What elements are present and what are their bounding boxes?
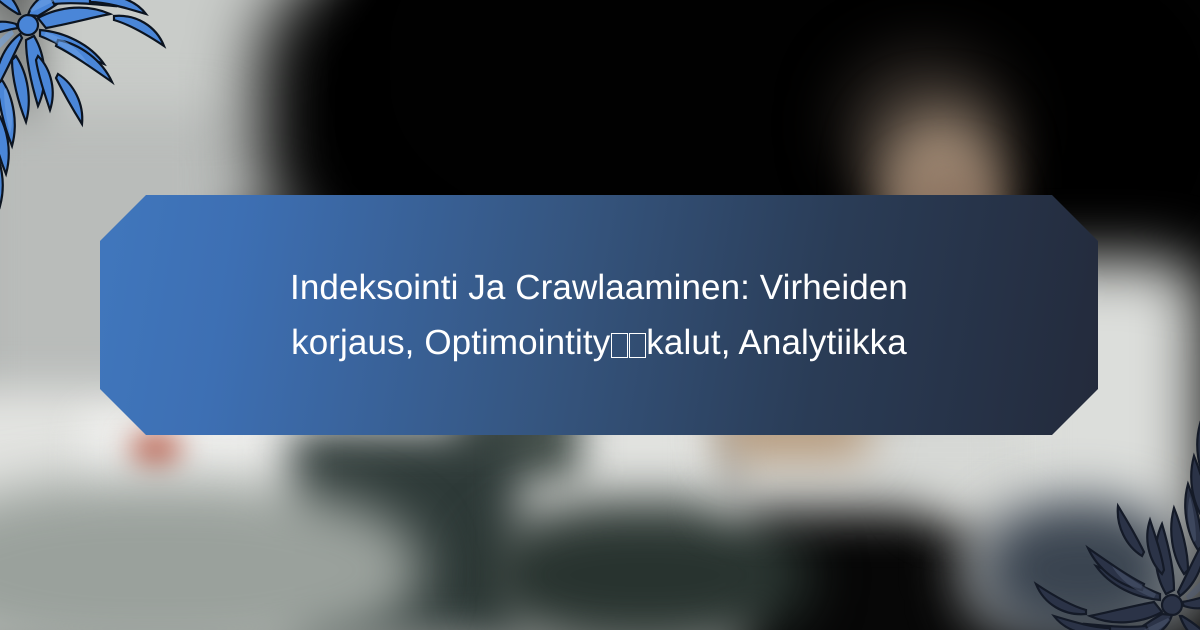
banner-title-line-2-prefix: korjaus, Optimointity <box>291 323 610 362</box>
title-ribbon: Indeksointi Ja Crawlaaminen: Virheiden k… <box>100 195 1098 435</box>
banner-title-line-2-suffix: kalut, Analytiikka <box>646 323 907 362</box>
bg-dark-slab-2 <box>480 500 810 630</box>
missing-glyph-box-2 <box>629 333 646 358</box>
banner-title-line-1: Indeksointi Ja Crawlaaminen: Virheiden <box>290 268 908 307</box>
banner-canvas: Indeksointi Ja Crawlaaminen: Virheiden k… <box>0 0 1200 630</box>
bg-red-accent <box>130 430 182 470</box>
bg-bottom-right-dark <box>980 500 1180 630</box>
missing-glyph-box-1 <box>611 333 628 358</box>
banner-title: Indeksointi Ja Crawlaaminen: Virheiden k… <box>159 260 1039 370</box>
